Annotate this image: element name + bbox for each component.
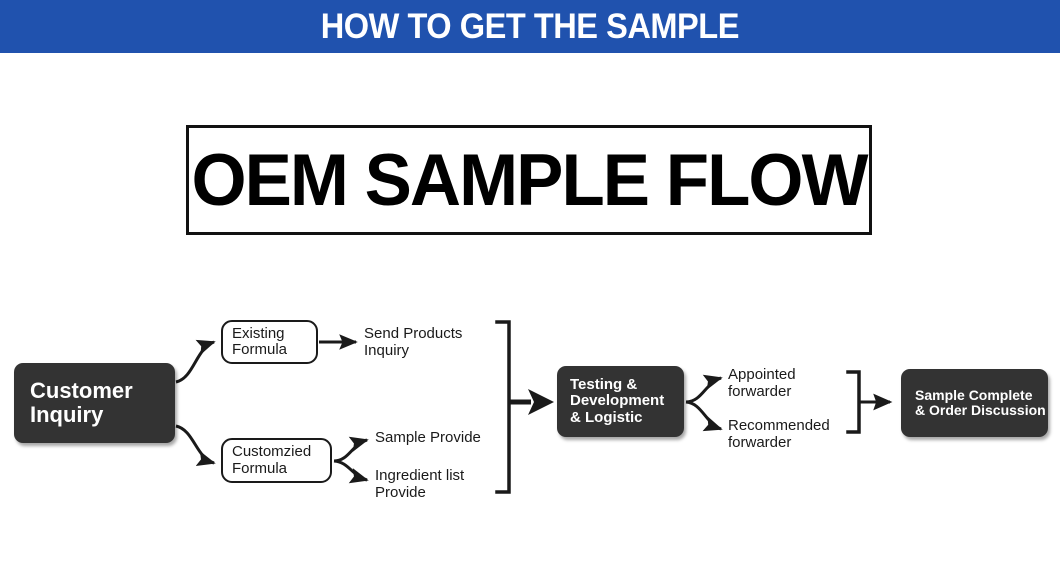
node-existing-formula-label: Existing Formula: [223, 326, 287, 359]
node-sample-complete-order-discussion-label: Sample Complete & Order Discussion: [915, 388, 1046, 418]
node-recommended-forwarder: Recommended forwarder: [728, 418, 830, 451]
connector-customzied-to-sample-provide: [334, 440, 367, 461]
node-customer-inquiry[interactable]: Customer Inquiry: [14, 363, 175, 443]
banner-title: HOW TO GET THE SAMPLE: [321, 7, 739, 47]
connector-testing-to-appointed: [686, 378, 721, 402]
node-customzied-formula-label: Customzied Formula: [223, 444, 311, 477]
connector-customzied-to-ingredient-list: [334, 461, 367, 480]
left-group-bracket: [497, 322, 509, 492]
node-ingredient-list-provide: Ingredient list Provide: [375, 468, 464, 501]
page-banner: HOW TO GET THE SAMPLE: [0, 0, 1060, 53]
node-testing-development-logistic[interactable]: Testing & Development & Logistic: [557, 366, 684, 437]
flow-diagram: Customer Inquiry Testing & Development &…: [0, 290, 1060, 530]
node-customzied-formula[interactable]: Customzied Formula: [221, 438, 332, 483]
node-send-products-inquiry: Send Products Inquiry: [364, 326, 462, 359]
node-existing-formula[interactable]: Existing Formula: [221, 320, 318, 364]
page-title: OEM SAMPLE FLOW: [191, 139, 866, 222]
node-customer-inquiry-label: Customer Inquiry: [30, 379, 133, 427]
right-group-bracket: [848, 372, 859, 432]
node-sample-provide: Sample Provide: [375, 430, 481, 447]
heading-box: OEM SAMPLE FLOW: [186, 125, 872, 235]
connector-bracket-to-testing-head: [528, 389, 554, 415]
connector-inquiry-to-customzied: [176, 426, 214, 463]
connector-testing-to-recommended: [686, 402, 721, 429]
node-sample-complete-order-discussion[interactable]: Sample Complete & Order Discussion: [901, 369, 1048, 437]
connector-inquiry-to-existing: [176, 342, 214, 382]
node-appointed-forwarder: Appointed forwarder: [728, 367, 796, 400]
node-testing-development-logistic-label: Testing & Development & Logistic: [570, 377, 664, 426]
